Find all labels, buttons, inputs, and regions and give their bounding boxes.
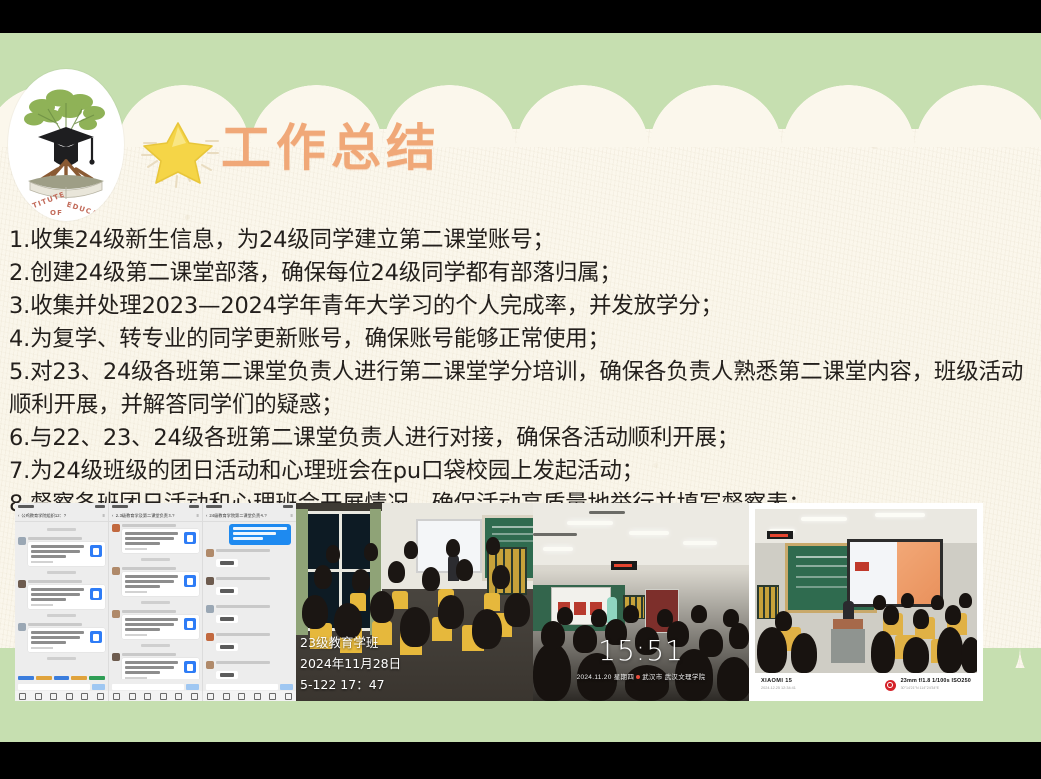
svg-text:OF: OF <box>50 209 63 217</box>
file-card[interactable] <box>122 658 199 679</box>
chat-message <box>18 580 105 609</box>
list-item: 3.收集并处理2023—2024学年青年大学习的个人完成率，并发放学分； <box>9 290 1035 323</box>
caption-line: 2024年11月28日 <box>300 653 401 674</box>
reply-bubble <box>216 671 238 679</box>
message-input-row[interactable] <box>15 682 108 691</box>
save-icon[interactable] <box>66 693 73 700</box>
avatar <box>112 653 120 661</box>
location-dot-icon <box>636 675 640 679</box>
podium <box>831 629 865 663</box>
chat-message <box>18 623 105 652</box>
chat-message <box>112 610 199 639</box>
photo-xiaomi-framed: XIAOMI 15 2024.12.25 12:34:41 23mm f/1.8… <box>749 503 983 701</box>
message-input[interactable] <box>112 684 184 690</box>
slide-canvas: INSTITUTE OF EDUCATION 工作总结 1.收集2 <box>0 33 1041 742</box>
institute-logo: INSTITUTE OF EDUCATION <box>8 69 124 221</box>
photo-clock-overlay: 15:51 <box>533 634 749 667</box>
chat-message-list <box>15 521 108 679</box>
timestamp <box>141 644 171 647</box>
star-icon <box>136 113 222 193</box>
file-icon <box>184 532 196 544</box>
image-icon[interactable] <box>223 693 230 700</box>
back-icon[interactable]: ‹ <box>112 513 113 518</box>
projector-screen <box>847 539 943 607</box>
file-card[interactable] <box>122 572 199 596</box>
chat-message <box>18 537 105 566</box>
avatar <box>18 623 26 631</box>
voice-icon[interactable] <box>113 693 120 700</box>
status-bar <box>109 503 202 510</box>
chat-title: 公鸡教育学院组织12：? <box>21 513 100 519</box>
toolbar[interactable] <box>203 691 296 701</box>
chat-message <box>206 661 293 679</box>
wechat-screenshot-3: ‹ 24级教育学院第二课堂负责⒋? ≡ <box>203 503 296 701</box>
photo-class-meeting: 23级教育学班 2024年11月28日 5-122 17：47 <box>296 503 533 701</box>
photo-subtitle-overlay: 2024.11.20 星期四武汉市 武汉文理学院 <box>533 671 749 681</box>
date-text: 2024.11.20 星期四 <box>577 674 635 681</box>
save-icon[interactable] <box>254 693 261 700</box>
mail-icon[interactable] <box>144 693 151 700</box>
avatar <box>18 537 26 545</box>
lens-info: 23mm f/1.8 1/100s ISO250 <box>901 679 971 684</box>
timestamp <box>47 614 77 617</box>
chat-title: 24级教育学院第二课堂负责⒋? <box>209 513 288 519</box>
device-name: XIAOMI 15 <box>761 679 885 685</box>
photo-caption-overlay: 23级教育学班 2024年11月28日 5-122 17：47 <box>300 632 401 695</box>
wechat-screenshot-2: ‹ ⒉3级教育学及第二课堂负责⒊? ≡ <box>109 503 203 701</box>
file-icon <box>184 661 196 673</box>
chat-message <box>206 549 293 572</box>
avatar <box>18 580 26 588</box>
timestamp <box>47 571 77 574</box>
xiaomi-watermark-bar: XIAOMI 15 2024.12.25 12:34:41 23mm f/1.8… <box>755 673 977 697</box>
chat-message <box>206 577 293 600</box>
list-item: 1.收集24级新生信息，为24级同学建立第二课堂账号； <box>9 224 1035 257</box>
caption-line: 23级教育学班 <box>300 632 401 653</box>
mail-icon[interactable] <box>50 693 57 700</box>
message-input-row[interactable] <box>203 682 296 691</box>
led-display <box>767 531 793 539</box>
emoji-icon[interactable] <box>175 693 182 700</box>
file-icon <box>90 631 102 643</box>
message-input-row[interactable] <box>109 682 202 691</box>
reply-bubble <box>216 587 238 595</box>
capture-date: 2024.12.25 12:34:41 <box>761 687 885 691</box>
save-icon[interactable] <box>160 693 167 700</box>
status-bar <box>203 503 296 510</box>
toolbar[interactable] <box>15 691 108 701</box>
image-icon[interactable] <box>129 693 136 700</box>
timestamp <box>141 558 171 561</box>
chat-message <box>206 605 293 628</box>
plus-icon[interactable] <box>97 693 104 700</box>
message-input[interactable] <box>206 684 278 690</box>
chat-message <box>112 653 199 679</box>
menu-icon[interactable]: ≡ <box>103 513 105 518</box>
menu-icon[interactable]: ≡ <box>291 513 293 518</box>
list-item: 6.与22、23、24级各班第二课堂负责人进行对接，确保各活动顺利开展； <box>9 422 1035 455</box>
list-item: 4.为复学、转专业的同学更新账号，确保账号能够正常使用； <box>9 323 1035 356</box>
page-title: 工作总结 <box>221 123 441 173</box>
file-card[interactable] <box>28 542 105 566</box>
chat-title: ⒉3级教育学及第二课堂负责⒊? <box>115 513 194 519</box>
timestamp <box>47 528 77 531</box>
avatar <box>112 610 120 618</box>
plus-icon[interactable] <box>191 693 198 700</box>
avatar <box>206 661 214 669</box>
timestamp <box>141 601 171 604</box>
voice-icon[interactable] <box>207 693 214 700</box>
led-display <box>611 561 637 570</box>
voice-icon[interactable] <box>19 693 26 700</box>
location-text: 武汉市 武汉文理学院 <box>642 674 705 681</box>
photo-lecture: 15:51 2024.11.20 星期四武汉市 武汉文理学院 <box>533 503 749 701</box>
list-item: 7.为24级班级的团日活动和心理班会在pu口袋校园上发起活动； <box>9 455 1035 488</box>
menu-icon[interactable]: ≡ <box>197 513 199 518</box>
reply-bubble <box>216 559 238 567</box>
gps-coords: 30°14′21″N 114°24′34″E <box>901 687 971 691</box>
list-item: 2.创建24级第二课堂部落，确保每位24级同学都有部落归属； <box>9 257 1035 290</box>
back-icon[interactable]: ‹ <box>206 513 207 518</box>
avatar <box>206 633 214 641</box>
photo-strip: ‹ 公鸡教育学院组织12：? ≡ <box>15 503 983 701</box>
toolbar[interactable] <box>109 691 202 701</box>
avatar <box>206 605 214 613</box>
avatar <box>206 577 214 585</box>
back-icon[interactable]: ‹ <box>18 513 19 518</box>
timestamp <box>47 657 77 660</box>
file-icon <box>90 545 102 557</box>
caption-line: 5-122 17：47 <box>300 674 401 695</box>
message-input[interactable] <box>18 684 90 690</box>
presentation-slide: INSTITUTE OF EDUCATION 工作总结 1.收集2 <box>0 0 1041 779</box>
chat-message <box>112 567 199 596</box>
list-item: 5.对23、24级各班第二课堂负责人进行第二课堂学分培训，确保各负责人熟悉第二课… <box>9 356 1035 422</box>
chat-message-list <box>109 521 202 679</box>
send-button[interactable] <box>280 684 293 690</box>
work-summary-list: 1.收集24级新生信息，为24级同学建立第二课堂账号； 2.创建24级第二课堂部… <box>9 224 1035 521</box>
emoji-icon[interactable] <box>81 693 88 700</box>
chat-message <box>112 524 199 553</box>
file-icon <box>184 618 196 630</box>
file-card[interactable] <box>28 628 105 652</box>
classroom-scene <box>755 509 977 673</box>
chat-message-list <box>203 521 296 679</box>
locker-wall <box>757 585 779 619</box>
file-card[interactable] <box>28 585 105 609</box>
avatar <box>206 549 214 557</box>
emoji-icon[interactable] <box>269 693 276 700</box>
status-bar <box>15 503 108 510</box>
send-button[interactable] <box>186 684 199 690</box>
own-message-bubble <box>229 524 291 545</box>
avatar <box>112 567 120 575</box>
leica-logo-icon <box>885 680 896 691</box>
mail-icon[interactable] <box>238 693 245 700</box>
star-decoration <box>136 113 222 193</box>
file-icon <box>90 588 102 600</box>
file-card[interactable] <box>122 529 199 553</box>
avatar <box>112 524 120 532</box>
institute-of-education-logo-icon: INSTITUTE OF EDUCATION <box>8 69 124 221</box>
photo-wechat-screenshots: ‹ 公鸡教育学院组织12：? ≡ <box>15 503 296 701</box>
file-card[interactable] <box>122 615 199 639</box>
reply-bubble <box>216 615 238 623</box>
send-button[interactable] <box>92 684 105 690</box>
chat-message <box>206 633 293 656</box>
close-icon[interactable] <box>285 693 292 700</box>
file-icon <box>184 575 196 587</box>
image-icon[interactable] <box>35 693 42 700</box>
wechat-screenshot-1: ‹ 公鸡教育学院组织12：? ≡ <box>15 503 109 701</box>
reply-bubble <box>216 643 238 651</box>
